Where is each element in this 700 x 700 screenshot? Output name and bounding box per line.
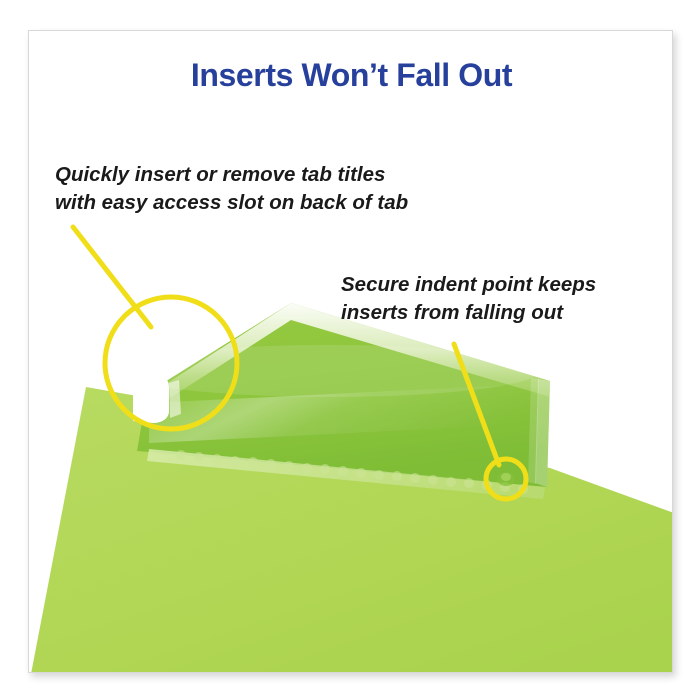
annotation-right-line2: inserts from falling out bbox=[341, 299, 596, 327]
annotation-left-text: Quickly insert or remove tab titles with… bbox=[55, 161, 408, 217]
annotation-right-text: Secure indent point keeps inserts from f… bbox=[341, 271, 596, 327]
annotation-left-line2: with easy access slot on back of tab bbox=[55, 189, 408, 217]
product-photo bbox=[29, 31, 673, 673]
annotation-left-line1: Quickly insert or remove tab titles bbox=[55, 161, 408, 189]
product-feature-graphic: Inserts Won’t Fall Out Quickly insert or… bbox=[0, 0, 700, 700]
product-card: Inserts Won’t Fall Out Quickly insert or… bbox=[28, 30, 673, 673]
annotation-right-line1: Secure indent point keeps bbox=[341, 271, 596, 299]
page-title: Inserts Won’t Fall Out bbox=[29, 57, 673, 94]
